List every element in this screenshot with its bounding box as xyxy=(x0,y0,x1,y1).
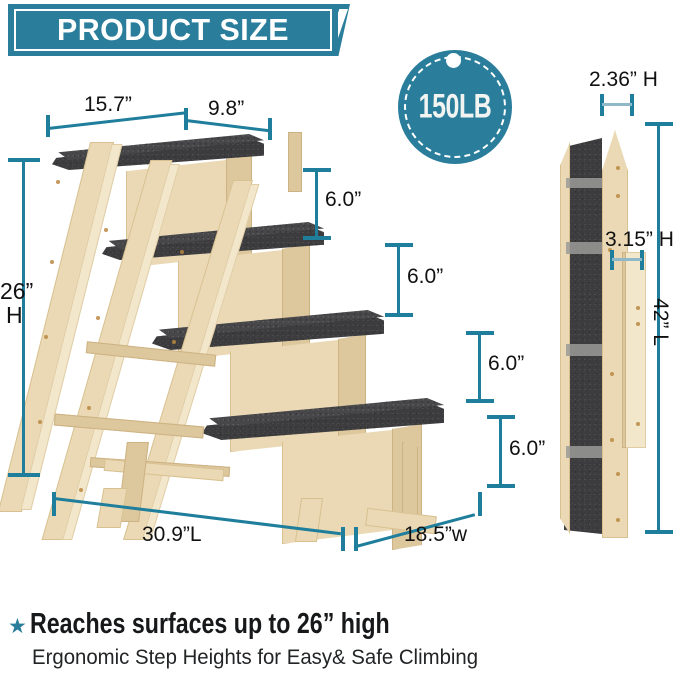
dim-line-rise1 xyxy=(315,168,318,238)
dim-label-ramp-length: 42” L xyxy=(648,296,672,348)
pet-stairs-illustration xyxy=(30,120,490,540)
pet-ramp-illustration xyxy=(560,120,650,540)
dim-label-rise1: 6.0” xyxy=(325,188,361,212)
dim-label-rise2: 6.0” xyxy=(407,265,443,289)
dim-label-ramp-thickness-mid: 3.15” H xyxy=(605,228,674,252)
footer-headline: Reaches surfaces up to 26” high xyxy=(30,608,390,641)
dim-label-height-unit: H xyxy=(6,302,23,329)
dim-tick-length-right xyxy=(341,527,345,551)
dim-label-ramp-thickness-top: 2.36” H xyxy=(589,68,658,92)
star-icon: ★ xyxy=(8,616,27,637)
dim-line-rise2 xyxy=(397,243,400,315)
infographic-canvas: PRODUCT SIZE 150LB xyxy=(0,0,679,674)
dim-line-ramp-thickness-mid xyxy=(612,258,642,261)
dim-label-top-left: 15.7” xyxy=(84,93,132,117)
dim-line-ramp-thickness-top xyxy=(602,103,632,106)
dim-tick-length-left xyxy=(52,492,56,516)
dim-label-height: 26” xyxy=(0,278,33,305)
page-title: PRODUCT SIZE xyxy=(11,4,334,56)
dim-line-rise4 xyxy=(499,415,502,486)
footer-subline: Ergonomic Step Heights for Easy& Safe Cl… xyxy=(32,646,478,670)
product-size-banner: PRODUCT SIZE xyxy=(8,4,338,56)
dim-tick-width-right xyxy=(478,492,482,516)
dim-label-rise3: 6.0” xyxy=(488,352,524,376)
dim-label-width: 18.5”w xyxy=(404,523,467,547)
dim-label-rise4: 6.0” xyxy=(509,437,545,461)
dim-label-top-right: 9.8” xyxy=(208,97,244,121)
dim-line-rise3 xyxy=(478,331,481,401)
dim-label-length: 30.9”L xyxy=(142,523,202,547)
